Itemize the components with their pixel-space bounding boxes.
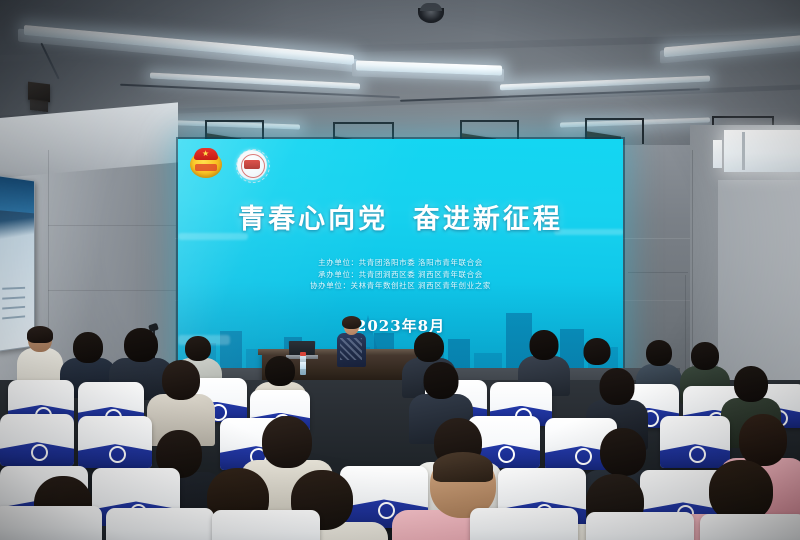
chair <box>586 512 694 540</box>
audience-member <box>520 330 568 386</box>
organizer-line-host: 主办单位：共青团洛阳市委 洛阳市青年联合会 <box>178 257 623 269</box>
chair <box>212 510 320 540</box>
notice-board-line <box>2 306 25 310</box>
notice-board-line <box>2 287 25 290</box>
chair <box>470 508 578 540</box>
notice-board-line <box>2 296 25 299</box>
audience-member <box>18 326 62 382</box>
chair <box>700 514 800 540</box>
window-side-pane <box>713 140 722 168</box>
wall-seam <box>628 272 688 273</box>
chair <box>0 414 74 466</box>
audience-member <box>150 360 212 434</box>
organizer-line-undertaker: 承办单位：共青团涧西区委 涧西区青年联合会 <box>178 269 623 281</box>
youth-federation-emblem-icon <box>237 150 267 180</box>
screen-title: 青春心向党 奋进新征程 <box>178 197 623 236</box>
screen-organizers: 主办单位：共青团洛阳市委 洛阳市青年联合会 承办单位：共青团涧西区委 涧西区青年… <box>178 257 623 292</box>
communist-youth-league-emblem-icon: ★ <box>190 148 222 180</box>
conference-hall-photo: 青春心向党 奋进新征程 主办单位：共青团洛阳市委 洛阳市青年联合会 承办单位：共… <box>0 0 800 540</box>
window <box>724 130 800 172</box>
chair <box>0 506 102 540</box>
wall-seam <box>48 225 176 226</box>
audience-area <box>0 318 800 540</box>
window-mullion <box>742 132 745 170</box>
organizer-line-coorganizer: 协办单位：关林青年数创社区 涧西区青年创业之家 <box>178 280 623 292</box>
wall-seam <box>48 290 176 291</box>
notice-board-header <box>0 176 34 213</box>
chair <box>106 508 214 540</box>
